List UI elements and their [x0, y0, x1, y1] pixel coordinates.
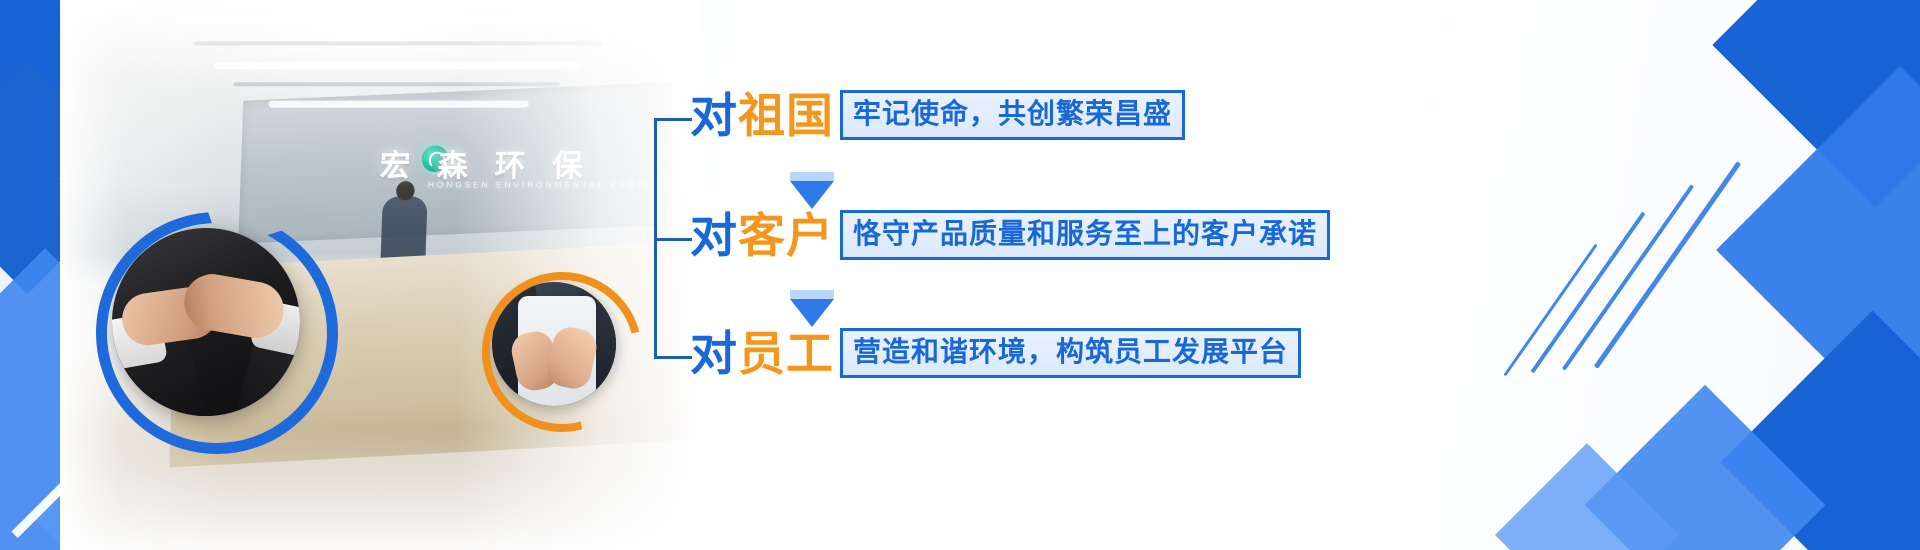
arrow-triangle-2 [790, 299, 834, 327]
deco-diamond-right-bottom-c [1495, 443, 1679, 550]
deco-line-right-1 [1594, 161, 1741, 369]
arrow-cap-1 [790, 172, 834, 181]
value-row-country: 对祖国 牢记使命，共创繁荣昌盛 [690, 90, 1185, 140]
value-target-employee: 员工 [738, 327, 834, 380]
value-row-employee: 对员工 营造和谐环境，构筑员工发展平台 [690, 328, 1301, 378]
value-target-country: 祖国 [738, 89, 834, 142]
arrow-triangle-1 [790, 181, 834, 209]
value-prefix-employee: 对 [690, 327, 738, 380]
deco-line-right-4 [1503, 244, 1597, 377]
company-values-banner: 宏 森 环 保 HONGSEN ENVIRONMENTAL PROTECTION [0, 0, 1920, 550]
value-prefix-country: 对 [690, 89, 738, 142]
value-target-customer: 客户 [738, 209, 834, 262]
value-row-customer: 对客户 恪守产品质量和服务至上的客户承诺 [690, 210, 1330, 260]
deco-diamond-right-top [1712, 0, 1920, 208]
deco-line-right-3 [1530, 211, 1645, 373]
value-prefix-customer: 对 [690, 209, 738, 262]
deco-diamond-right-bottom-b [1585, 385, 1825, 550]
value-keyword-customer: 对客户 [690, 212, 834, 259]
value-keyword-country: 对祖国 [690, 92, 834, 139]
value-statement-country: 牢记使命，共创繁荣昌盛 [840, 90, 1185, 140]
value-statement-customer: 恪守产品质量和服务至上的客户承诺 [840, 210, 1330, 260]
deco-line-right-2 [1562, 184, 1694, 371]
connector-branch-1 [654, 118, 692, 121]
deco-diamond-right-mid [1716, 66, 1920, 434]
connector-branch-2 [654, 238, 692, 241]
value-statement-employee: 营造和谐环境，构筑员工发展平台 [840, 328, 1301, 378]
arrow-cap-2 [790, 290, 834, 299]
value-keyword-employee: 对员工 [690, 330, 834, 377]
values-list: 对祖国 牢记使命，共创繁荣昌盛 对客户 恪守产品质量和服务至上的客户承诺 对员工… [640, 0, 1340, 550]
connector-branch-3 [654, 356, 692, 359]
deco-diamond-right-bottom [1720, 310, 1920, 550]
